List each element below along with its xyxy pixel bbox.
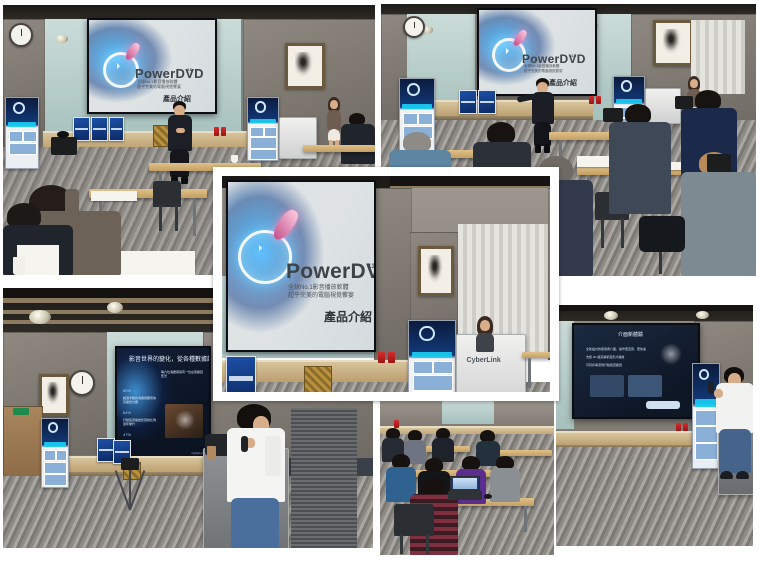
- audience-rear-view-scene: [380, 400, 554, 555]
- laptop[interactable]: [450, 476, 480, 500]
- beverage-can: [589, 96, 594, 104]
- roll-up-banner: [41, 418, 69, 488]
- projection-screen: CyberLink PowerDVD 13 全球No.1影音播放軟體 超乎完美的…: [87, 18, 217, 114]
- slide-bullet: 可同步串流到行動裝置觀賞: [586, 363, 622, 367]
- wall-clock-icon: [9, 23, 33, 47]
- slide-logo: CyberLink: [484, 13, 498, 17]
- camera: [707, 154, 731, 172]
- slide-stat: 80%: [123, 388, 131, 393]
- slide-stat: 64%: [123, 410, 131, 415]
- slide-bullet: 行動裝置播放影音的比例逐年攀升: [123, 418, 157, 426]
- paper-cup: [231, 155, 238, 163]
- backpack: [639, 216, 685, 252]
- camera: [121, 458, 139, 470]
- chair: [153, 181, 181, 207]
- presenter: [163, 101, 197, 185]
- product-box: [226, 356, 256, 392]
- photo-center[interactable]: PowerDVD 13 全球No.1影音播放軟體 超乎完美的電腦視覺饗宴 產品介…: [213, 167, 559, 401]
- desk: [522, 352, 550, 358]
- slide-version: 13: [187, 67, 192, 72]
- slide-stat: 47%: [123, 432, 131, 437]
- slide-bullet: 全新設計的使用者介面，操作更直覺、更快速: [586, 347, 646, 351]
- computer-mouse[interactable]: [484, 494, 492, 499]
- beverage-can: [214, 127, 219, 136]
- roll-up-banner: [247, 97, 279, 161]
- beverage-can: [596, 96, 601, 104]
- handheld-microphone: [708, 381, 714, 394]
- slide-bullet: 每六位消費者就有一位在家觀賞藍光: [161, 370, 205, 378]
- podium: [279, 117, 317, 159]
- product-box: [109, 117, 124, 141]
- paper-cup: [207, 446, 216, 460]
- presentation-scene: 介面新體驗 全新設計的使用者介面，操作更直覺、更快速 支援 4K 超高解析度影片…: [556, 305, 753, 546]
- powerdvd-play-icon: [238, 230, 292, 284]
- slide-bullet: 超過半數的消費者願意為高畫質付費: [123, 396, 157, 404]
- roll-up-banner: [408, 320, 456, 392]
- wall-clock-icon: [69, 370, 95, 396]
- camera: [603, 108, 623, 122]
- product-box: [478, 90, 496, 114]
- beverage-can: [683, 423, 688, 431]
- beverage-can: [378, 352, 385, 363]
- podium-brand-label: CyberLink: [467, 357, 501, 364]
- chair: [394, 504, 434, 536]
- gift-bag: [304, 366, 332, 392]
- projection-screen: 介面新體驗 全新設計的使用者介面，操作更直覺、更快速 支援 4K 超高解析度影片…: [572, 323, 700, 419]
- slide-title: 影音世界的變化，從各種數據說起: [129, 354, 209, 363]
- wall-vent: [291, 408, 357, 548]
- product-box: [91, 117, 108, 141]
- slide-bullet: 支援 4K 超高解析度影片播放: [586, 355, 624, 359]
- wall-clock-icon: [403, 16, 425, 38]
- projection-screen: PowerDVD 13 全球No.1影音播放軟體 超乎完美的電腦視覺饗宴 產品介…: [226, 180, 376, 352]
- paper-cup: [13, 257, 25, 275]
- photo-bottom-right[interactable]: 介面新體驗 全新設計的使用者介面，操作更直覺、更快速 支援 4K 超高解析度影片…: [556, 305, 753, 546]
- audience-member: [432, 428, 454, 462]
- powerdvd-play-icon: [103, 52, 139, 88]
- beverage-can: [676, 423, 681, 431]
- beverage-can: [394, 420, 399, 428]
- framed-calligraphy: [653, 20, 693, 66]
- slide-title: 介面新體驗: [618, 331, 643, 338]
- slide-section-label: 產品介紹: [324, 308, 372, 325]
- stage-wide-scene: PowerDVD 13 全球No.1影音播放軟體 超乎完美的電腦視覺饗宴 產品介…: [222, 176, 550, 392]
- framed-calligraphy: [285, 43, 325, 89]
- slide-subtitle-2: 超乎完美的電腦視覺饗宴: [524, 69, 563, 74]
- door: [3, 406, 43, 484]
- framed-calligraphy: [39, 374, 69, 416]
- desk: [303, 145, 375, 152]
- photo-bottom-middle[interactable]: [380, 400, 554, 555]
- slide-logo: CyberLink: [94, 23, 108, 27]
- exit-sign: [13, 408, 29, 415]
- slide-version: 13: [571, 53, 576, 58]
- slide-subtitle-2: 超乎完美的電腦視覺饗宴: [288, 290, 354, 299]
- product-box: [459, 90, 477, 114]
- audience-member: [490, 456, 520, 502]
- camera: [675, 96, 693, 109]
- speaker-with-microphone: [716, 367, 753, 485]
- slide-version: 13: [368, 264, 374, 270]
- hostess: [472, 316, 498, 352]
- beverage-can: [388, 352, 395, 363]
- slide-product-name: PowerDVD: [286, 260, 374, 284]
- speaker-with-microphone: [225, 404, 289, 548]
- camera: [51, 137, 77, 155]
- framed-calligraphy: [418, 246, 454, 296]
- photo-collage: CyberLink PowerDVD 13 全球No.1影音播放軟體 超乎完美的…: [0, 0, 760, 570]
- camera-tripod[interactable]: [115, 466, 145, 510]
- handheld-microphone: [241, 436, 248, 452]
- beverage-can: [221, 127, 226, 136]
- slide-subtitle-2: 超乎完美的電腦視覺饗宴: [137, 84, 181, 90]
- audience-member: [341, 113, 375, 173]
